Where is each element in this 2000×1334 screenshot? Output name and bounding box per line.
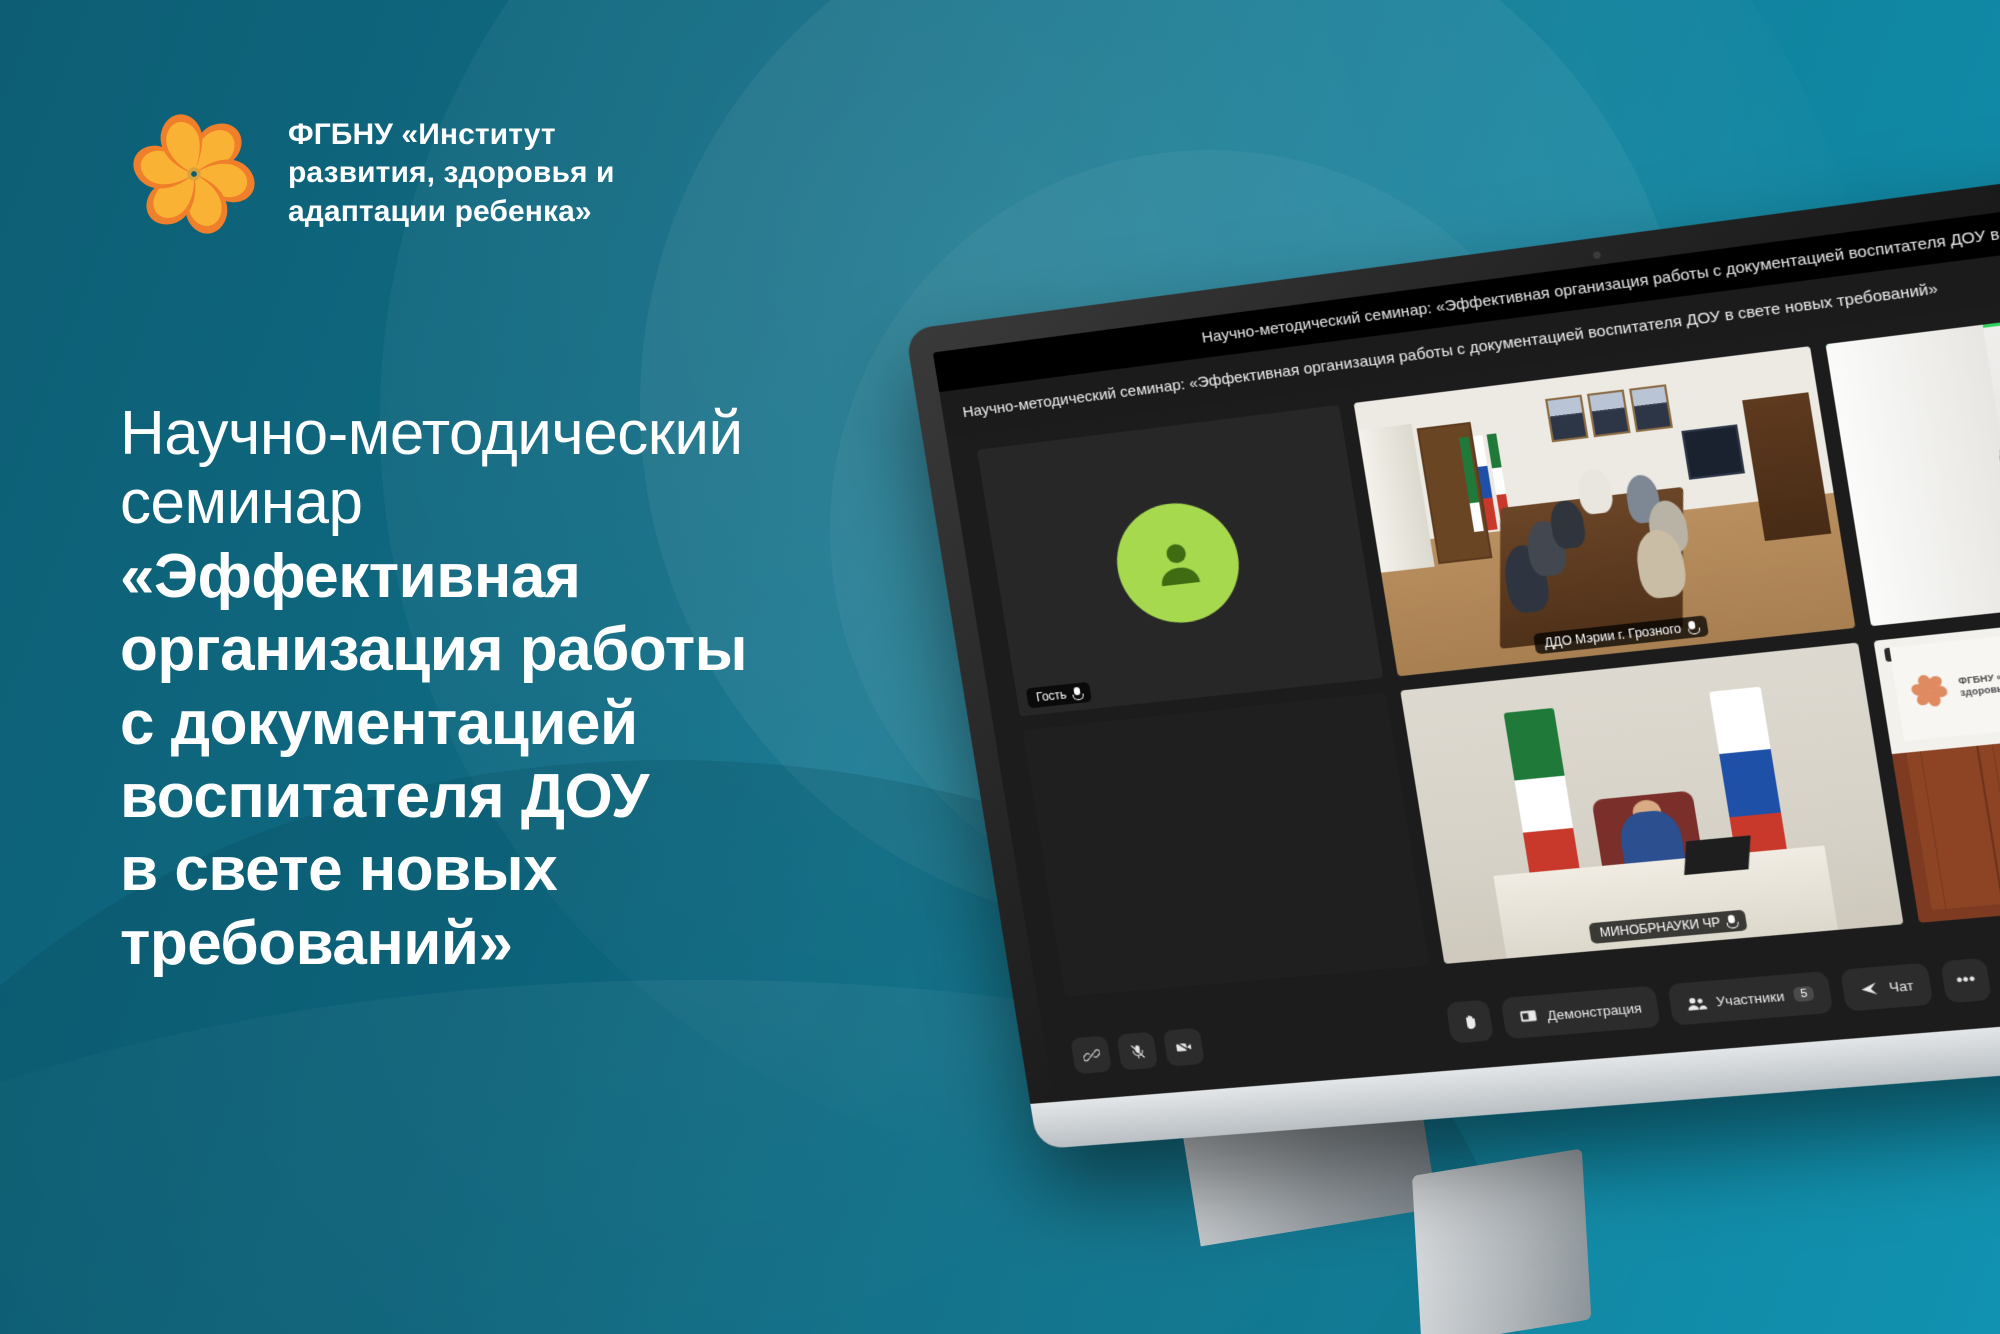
portrait-frame bbox=[1545, 394, 1589, 442]
participants-count: 5 bbox=[1793, 986, 1815, 1002]
video-tile-guest[interactable]: Гость bbox=[977, 405, 1383, 717]
person-icon bbox=[1145, 531, 1211, 594]
screen-share-label: Демонстрация bbox=[1546, 1000, 1643, 1023]
participant-name-badge: Гость bbox=[1026, 682, 1092, 709]
avatar bbox=[1108, 496, 1247, 628]
poster-canvas: ФГБНУ «Институт развития, здоровья и ада… bbox=[0, 0, 2000, 1334]
brand-lockup: ФГБНУ «Институт развития, здоровья и ада… bbox=[128, 108, 708, 240]
more-options-button[interactable]: ••• bbox=[1940, 958, 1992, 1004]
people-icon bbox=[1686, 994, 1708, 1011]
participants-button[interactable]: Участники 5 bbox=[1667, 971, 1834, 1026]
mic-icon bbox=[1726, 914, 1738, 928]
room-tv bbox=[1681, 424, 1744, 479]
send-icon bbox=[1859, 979, 1881, 998]
title-line-8: требований» bbox=[120, 909, 920, 978]
chat-label: Чат bbox=[1888, 977, 1915, 995]
raise-hand-icon bbox=[1460, 1012, 1481, 1031]
title-line-7: в свете новых bbox=[120, 835, 920, 904]
title-line-2: семинар bbox=[120, 469, 920, 538]
title-line-4: организация работы bbox=[120, 615, 920, 684]
mic-muted-icon bbox=[1071, 686, 1082, 700]
chat-button[interactable]: Чат bbox=[1840, 963, 1933, 1012]
title-line-1: Научно-методический bbox=[120, 400, 920, 469]
title-line-6: воспитателя ДОУ bbox=[120, 762, 920, 831]
participant-name: Гость bbox=[1035, 687, 1067, 704]
brand-name: ФГБНУ «Институт развития, здоровья и ада… bbox=[288, 108, 708, 231]
video-tile-grozny[interactable]: ДДО Мэрии г. Грозного bbox=[1354, 346, 1856, 676]
screen-share-button[interactable]: Демонстрация bbox=[1500, 985, 1661, 1039]
pinwheel-flower-logo-icon bbox=[128, 108, 260, 240]
page-title: Научно-методический семинар «Эффективная… bbox=[120, 400, 920, 978]
video-tile-empty bbox=[1022, 692, 1430, 997]
monitor-stand-base bbox=[1412, 1149, 1591, 1334]
video-tile-olga[interactable]: Ольга Никифорова bbox=[1826, 284, 2000, 626]
title-line-5: с документацией bbox=[120, 689, 920, 758]
window-curtain bbox=[1826, 325, 2000, 627]
portrait-frame bbox=[1629, 384, 1673, 432]
participants-label: Участники bbox=[1715, 988, 1785, 1009]
webcam-dot-icon bbox=[1593, 251, 1602, 259]
institute-banner-text: ФГБНУ «Институт развития, здоровья и ада… bbox=[1958, 659, 2000, 699]
portrait-frame bbox=[1587, 389, 1631, 437]
wood-panel bbox=[1906, 712, 2000, 910]
raise-hand-button[interactable] bbox=[1446, 999, 1495, 1043]
video-tile-minobrnauki[interactable]: МИНОБРНАУКИ ЧР bbox=[1400, 643, 1903, 964]
mic-muted-icon bbox=[1687, 620, 1699, 635]
laptop bbox=[1684, 836, 1751, 876]
pinwheel-flower-logo-icon bbox=[1907, 671, 1951, 711]
more-icon: ••• bbox=[1955, 971, 1977, 989]
title-line-3: «Эффективная bbox=[120, 542, 920, 611]
screen-share-icon bbox=[1518, 1008, 1539, 1025]
